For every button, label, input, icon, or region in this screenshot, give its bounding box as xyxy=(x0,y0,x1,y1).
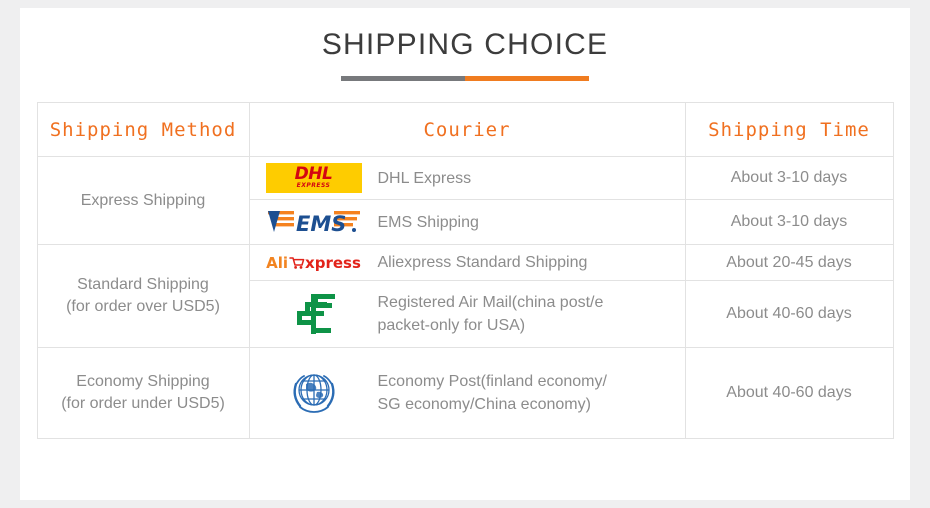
page-title: SHIPPING CHOICE xyxy=(20,30,910,60)
shipping-choice-card: SHIPPING CHOICE Shipping Method Courier … xyxy=(20,8,910,500)
courier-label-line2: SG economy/China economy) xyxy=(378,393,607,416)
header-shipping-method: Shipping Method xyxy=(37,103,249,157)
method-label: Economy Shipping xyxy=(38,371,249,393)
table-row: Express Shipping DHL EXPRESS DHL Express… xyxy=(37,157,893,200)
aliexpress-logo-text: Ali xyxy=(266,255,288,271)
title-underline xyxy=(341,76,589,81)
aliexpress-logo-subtext: xpress xyxy=(305,255,361,271)
table-row: Economy Shipping (for order under USD5) xyxy=(37,348,893,439)
courier-label-line1: Economy Post(finland economy/ xyxy=(378,370,607,393)
time-ems: About 3-10 days xyxy=(685,200,893,245)
table-row: Standard Shipping (for order over USD5) … xyxy=(37,245,893,281)
method-label: Express Shipping xyxy=(38,190,249,212)
dhl-logo: DHL EXPRESS xyxy=(250,163,378,193)
courier-label-line1: Registered Air Mail(china post/e xyxy=(378,291,604,314)
courier-label-line2: packet-only for USA) xyxy=(378,314,604,337)
time-aliexpress: About 20-45 days xyxy=(685,245,893,281)
courier-cell-china-post: Registered Air Mail(china post/e packet-… xyxy=(249,281,685,348)
united-nations-logo xyxy=(250,366,378,420)
courier-cell-aliexpress: Ali xpress Aliexpress Standard Shipping xyxy=(249,245,685,281)
method-note: (for order under USD5) xyxy=(38,393,249,415)
title-underline-right xyxy=(465,76,589,81)
method-label: Standard Shipping xyxy=(38,274,249,296)
courier-cell-economy-post: Economy Post(finland economy/ SG economy… xyxy=(249,348,685,439)
method-economy-shipping: Economy Shipping (for order under USD5) xyxy=(37,348,249,439)
aliexpress-logo: Ali xpress xyxy=(250,255,378,271)
method-express-shipping: Express Shipping xyxy=(37,157,249,245)
shopping-cart-icon xyxy=(289,255,305,270)
china-post-logo-icon xyxy=(291,292,337,336)
dhl-logo-text: DHL xyxy=(295,166,333,182)
courier-cell-ems: EMS EMS Shipping xyxy=(249,200,685,245)
dhl-logo-subtext: EXPRESS xyxy=(297,182,331,190)
courier-cell-dhl: DHL EXPRESS DHL Express xyxy=(249,157,685,200)
page-title-block: SHIPPING CHOICE xyxy=(20,8,910,81)
time-dhl: About 3-10 days xyxy=(685,157,893,200)
courier-label: DHL Express xyxy=(378,167,480,190)
time-china-post: About 40-60 days xyxy=(685,281,893,348)
united-nations-logo-icon xyxy=(286,366,342,420)
ems-logo: EMS xyxy=(250,206,378,238)
shipping-table: Shipping Method Courier Shipping Time Ex… xyxy=(37,102,894,439)
method-note: (for order over USD5) xyxy=(38,296,249,318)
courier-label: Aliexpress Standard Shipping xyxy=(378,251,596,274)
title-underline-left xyxy=(341,76,465,81)
courier-label: EMS Shipping xyxy=(378,211,487,234)
time-economy-post: About 40-60 days xyxy=(685,348,893,439)
svg-text:EMS: EMS xyxy=(296,212,346,236)
method-standard-shipping: Standard Shipping (for order over USD5) xyxy=(37,245,249,348)
courier-label: Economy Post(finland economy/ SG economy… xyxy=(378,370,615,416)
china-post-logo xyxy=(250,292,378,336)
ems-logo-icon: EMS xyxy=(266,206,362,238)
header-courier: Courier xyxy=(249,103,685,157)
header-shipping-time: Shipping Time xyxy=(685,103,893,157)
courier-label: Registered Air Mail(china post/e packet-… xyxy=(378,291,612,337)
table-header-row: Shipping Method Courier Shipping Time xyxy=(37,103,893,157)
